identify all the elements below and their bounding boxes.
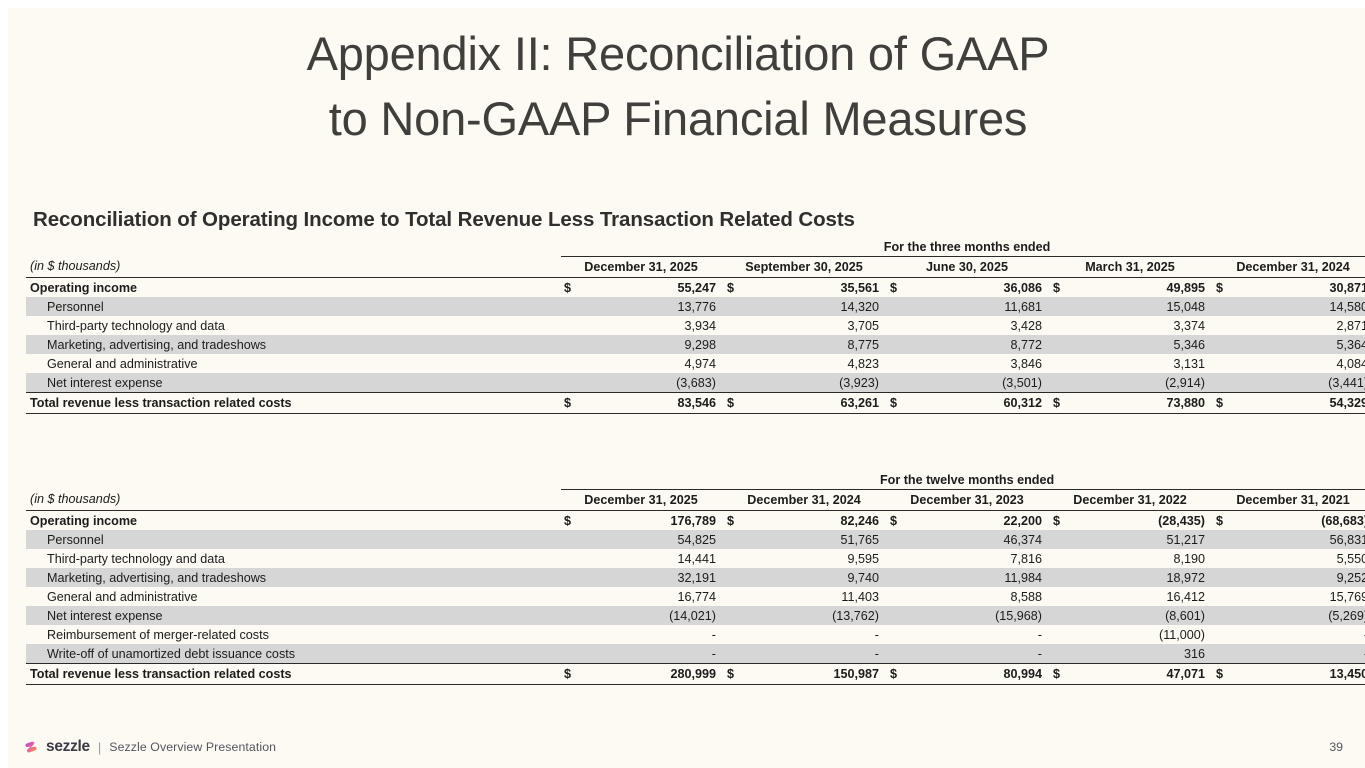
- cell-value: (2,914): [1082, 373, 1210, 393]
- currency-symbol: [724, 354, 756, 373]
- currency-symbol: [561, 587, 593, 606]
- row-label: Personnel: [26, 297, 561, 316]
- cell-value: (14,021): [593, 606, 721, 625]
- currency-symbol: [724, 316, 756, 335]
- currency-symbol: [1050, 625, 1082, 644]
- cell-value: (8,601): [1082, 606, 1210, 625]
- cell-value: 3,705: [756, 316, 884, 335]
- cell-value: -: [919, 625, 1047, 644]
- cell-value: 176,789: [593, 511, 721, 531]
- row-label: General and administrative: [26, 354, 561, 373]
- currency-symbol: $: [561, 664, 593, 685]
- currency-symbol: [561, 606, 593, 625]
- cell-value: (3,501): [919, 373, 1047, 393]
- cell-value: 51,217: [1082, 530, 1210, 549]
- sezzle-wordmark: sezzle: [46, 738, 90, 756]
- currency-symbol: $: [561, 393, 593, 414]
- cell-value: 55,247: [593, 278, 721, 298]
- section-heading: Reconciliation of Operating Income to To…: [33, 208, 855, 232]
- cell-value: 54,329: [1245, 393, 1365, 414]
- cell-value: 54,825: [593, 530, 721, 549]
- row-label: Operating income: [26, 278, 561, 298]
- cell-value: (3,441): [1245, 373, 1365, 393]
- currency-symbol: [561, 625, 593, 644]
- currency-symbol: [1050, 587, 1082, 606]
- cell-value: 4,974: [593, 354, 721, 373]
- row-label: Net interest expense: [26, 373, 561, 393]
- currency-symbol: $: [887, 278, 919, 298]
- currency-symbol: [1213, 625, 1245, 644]
- table-twelve-months-body: For the twelve months ended(in $ thousan…: [26, 471, 1365, 685]
- currency-symbol: [1050, 316, 1082, 335]
- currency-symbol: [1050, 297, 1082, 316]
- currency-symbol: $: [1213, 393, 1245, 414]
- currency-symbol: [724, 568, 756, 587]
- currency-symbol: [1213, 373, 1245, 393]
- table-row: Personnel54,82551,76546,37451,21756,831: [26, 530, 1365, 549]
- cell-value: 16,774: [593, 587, 721, 606]
- column-header-3: June 30, 2025: [887, 257, 1047, 278]
- currency-symbol: [561, 297, 593, 316]
- currency-symbol: [724, 587, 756, 606]
- title-line-2: to Non-GAAP Financial Measures: [8, 87, 1348, 152]
- currency-symbol: [1213, 297, 1245, 316]
- cell-value: 11,681: [919, 297, 1047, 316]
- currency-symbol: [724, 606, 756, 625]
- table-row: Total revenue less transaction related c…: [26, 393, 1365, 414]
- cell-value: -: [756, 644, 884, 664]
- cell-value: (28,435): [1082, 511, 1210, 531]
- cell-value: 13,450: [1245, 664, 1365, 685]
- column-header-4: December 31, 2022: [1050, 490, 1210, 511]
- cell-value: 13,776: [593, 297, 721, 316]
- currency-symbol: [887, 625, 919, 644]
- cell-value: 73,880: [1082, 393, 1210, 414]
- currency-symbol: [887, 606, 919, 625]
- column-header-3: December 31, 2023: [887, 490, 1047, 511]
- currency-symbol: $: [724, 278, 756, 298]
- currency-symbol: [1050, 568, 1082, 587]
- group-header-row: For the three months ended: [26, 238, 1365, 257]
- cell-value: 150,987: [756, 664, 884, 685]
- cell-value: 2,871: [1245, 316, 1365, 335]
- currency-symbol: [1213, 549, 1245, 568]
- cell-value: 18,972: [1082, 568, 1210, 587]
- cell-value: 15,048: [1082, 297, 1210, 316]
- cell-value: 63,261: [756, 393, 884, 414]
- currency-symbol: [887, 549, 919, 568]
- cell-value: -: [593, 625, 721, 644]
- currency-symbol: $: [724, 393, 756, 414]
- page-title: Appendix II: Reconciliation of GAAP to N…: [8, 22, 1348, 152]
- footer: sezzle | Sezzle Overview Presentation 39: [8, 738, 1365, 768]
- currency-symbol: $: [1050, 511, 1082, 531]
- cell-value: -: [1245, 625, 1365, 644]
- currency-symbol: [561, 373, 593, 393]
- cell-value: 5,346: [1082, 335, 1210, 354]
- cell-value: 9,595: [756, 549, 884, 568]
- currency-symbol: [887, 644, 919, 664]
- currency-symbol: [561, 354, 593, 373]
- currency-symbol: [724, 625, 756, 644]
- currency-symbol: $: [1213, 278, 1245, 298]
- currency-symbol: $: [1050, 393, 1082, 414]
- table-row: Third-party technology and data14,4419,5…: [26, 549, 1365, 568]
- row-label: Total revenue less transaction related c…: [26, 664, 561, 685]
- cell-value: -: [1245, 644, 1365, 664]
- currency-symbol: [1213, 354, 1245, 373]
- cell-value: (3,923): [756, 373, 884, 393]
- currency-symbol: $: [887, 393, 919, 414]
- table-row: Marketing, advertising, and tradeshows32…: [26, 568, 1365, 587]
- currency-symbol: [887, 335, 919, 354]
- cell-value: 22,200: [919, 511, 1047, 531]
- currency-symbol: $: [561, 511, 593, 531]
- table-row: Net interest expense(14,021)(13,762)(15,…: [26, 606, 1365, 625]
- cell-value: 83,546: [593, 393, 721, 414]
- currency-symbol: [1213, 568, 1245, 587]
- currency-symbol: [1213, 335, 1245, 354]
- row-label: Total revenue less transaction related c…: [26, 393, 561, 414]
- column-header-row: (in $ thousands)December 31, 2025Decembe…: [26, 490, 1365, 511]
- row-label: Third-party technology and data: [26, 316, 561, 335]
- table-three-months: For the three months ended(in $ thousand…: [26, 238, 1365, 414]
- row-label: Write-off of unamortized debt issuance c…: [26, 644, 561, 664]
- cell-value: 16,412: [1082, 587, 1210, 606]
- cell-value: 280,999: [593, 664, 721, 685]
- column-header-2: September 30, 2025: [724, 257, 884, 278]
- currency-symbol: [561, 644, 593, 664]
- cell-value: 9,298: [593, 335, 721, 354]
- cell-value: 82,246: [756, 511, 884, 531]
- currency-symbol: $: [724, 511, 756, 531]
- currency-symbol: [1213, 606, 1245, 625]
- cell-value: 56,831: [1245, 530, 1365, 549]
- cell-value: 51,765: [756, 530, 884, 549]
- table-row: Operating income$55,247$35,561$36,086$49…: [26, 278, 1365, 298]
- cell-value: 5,550: [1245, 549, 1365, 568]
- currency-symbol: $: [887, 511, 919, 531]
- currency-symbol: [561, 530, 593, 549]
- currency-symbol: [887, 530, 919, 549]
- currency-symbol: [724, 530, 756, 549]
- currency-symbol: [1050, 644, 1082, 664]
- column-header-5: December 31, 2021: [1213, 490, 1365, 511]
- footer-brand-group: sezzle | Sezzle Overview Presentation: [24, 738, 276, 756]
- table-row: Write-off of unamortized debt issuance c…: [26, 644, 1365, 664]
- cell-value: 316: [1082, 644, 1210, 664]
- group-header-label: For the three months ended: [561, 238, 1365, 257]
- units-label: (in $ thousands): [26, 490, 561, 511]
- cell-value: -: [756, 625, 884, 644]
- slide-canvas: Appendix II: Reconciliation of GAAP to N…: [8, 8, 1365, 768]
- cell-value: 3,131: [1082, 354, 1210, 373]
- row-label: General and administrative: [26, 587, 561, 606]
- row-label: Reimbursement of merger-related costs: [26, 625, 561, 644]
- table-row: General and administrative16,77411,4038,…: [26, 587, 1365, 606]
- cell-value: (3,683): [593, 373, 721, 393]
- currency-symbol: [1050, 373, 1082, 393]
- cell-value: 80,994: [919, 664, 1047, 685]
- cell-value: 49,895: [1082, 278, 1210, 298]
- currency-symbol: [724, 373, 756, 393]
- cell-value: 60,312: [919, 393, 1047, 414]
- currency-symbol: [887, 568, 919, 587]
- cell-value: 15,769: [1245, 587, 1365, 606]
- currency-symbol: $: [1213, 664, 1245, 685]
- table-row: Marketing, advertising, and tradeshows9,…: [26, 335, 1365, 354]
- column-header-1: December 31, 2025: [561, 257, 721, 278]
- cell-value: (68,683): [1245, 511, 1365, 531]
- cell-value: 8,190: [1082, 549, 1210, 568]
- cell-value: 3,428: [919, 316, 1047, 335]
- table-row: Operating income$176,789$82,246$22,200$(…: [26, 511, 1365, 531]
- cell-value: 3,934: [593, 316, 721, 335]
- cell-value: 8,588: [919, 587, 1047, 606]
- currency-symbol: [724, 644, 756, 664]
- title-line-1: Appendix II: Reconciliation of GAAP: [8, 22, 1348, 87]
- cell-value: 5,364: [1245, 335, 1365, 354]
- cell-value: 7,816: [919, 549, 1047, 568]
- table-row: Personnel13,77614,32011,68115,04814,580: [26, 297, 1365, 316]
- cell-value: 14,580: [1245, 297, 1365, 316]
- cell-value: 30,871: [1245, 278, 1365, 298]
- currency-symbol: [724, 549, 756, 568]
- currency-symbol: [1050, 335, 1082, 354]
- currency-symbol: [1050, 549, 1082, 568]
- column-header-row: (in $ thousands)December 31, 2025Septemb…: [26, 257, 1365, 278]
- table-row: Third-party technology and data3,9343,70…: [26, 316, 1365, 335]
- sezzle-logo-icon: [24, 740, 39, 755]
- currency-symbol: $: [1050, 278, 1082, 298]
- cell-value: 8,772: [919, 335, 1047, 354]
- cell-value: (5,269): [1245, 606, 1365, 625]
- cell-value: (15,968): [919, 606, 1047, 625]
- group-header-spacer: [26, 238, 561, 257]
- row-label: Marketing, advertising, and tradeshows: [26, 568, 561, 587]
- row-label: Net interest expense: [26, 606, 561, 625]
- currency-symbol: [887, 297, 919, 316]
- cell-value: 11,403: [756, 587, 884, 606]
- cell-value: (11,000): [1082, 625, 1210, 644]
- currency-symbol: [1050, 530, 1082, 549]
- currency-symbol: [887, 373, 919, 393]
- currency-symbol: $: [1050, 664, 1082, 685]
- cell-value: 46,374: [919, 530, 1047, 549]
- row-label: Third-party technology and data: [26, 549, 561, 568]
- currency-symbol: $: [1213, 511, 1245, 531]
- group-header-label: For the twelve months ended: [561, 471, 1365, 490]
- currency-symbol: [1213, 530, 1245, 549]
- table-row: Net interest expense(3,683)(3,923)(3,501…: [26, 373, 1365, 393]
- currency-symbol: [724, 335, 756, 354]
- cell-value: 9,740: [756, 568, 884, 587]
- cell-value: (13,762): [756, 606, 884, 625]
- table-row: Reimbursement of merger-related costs---…: [26, 625, 1365, 644]
- cell-value: 47,071: [1082, 664, 1210, 685]
- row-label: Marketing, advertising, and tradeshows: [26, 335, 561, 354]
- currency-symbol: [1213, 587, 1245, 606]
- group-header-spacer: [26, 471, 561, 490]
- currency-symbol: [561, 549, 593, 568]
- cell-value: 14,441: [593, 549, 721, 568]
- table-three-months-body: For the three months ended(in $ thousand…: [26, 238, 1365, 414]
- column-header-2: December 31, 2024: [724, 490, 884, 511]
- cell-value: 4,084: [1245, 354, 1365, 373]
- units-label: (in $ thousands): [26, 257, 561, 278]
- cell-value: 35,561: [756, 278, 884, 298]
- currency-symbol: [1050, 354, 1082, 373]
- column-header-5: December 31, 2024: [1213, 257, 1365, 278]
- currency-symbol: [1213, 644, 1245, 664]
- currency-symbol: [887, 354, 919, 373]
- currency-symbol: [561, 568, 593, 587]
- column-header-4: March 31, 2025: [1050, 257, 1210, 278]
- currency-symbol: [1050, 606, 1082, 625]
- table-row: Total revenue less transaction related c…: [26, 664, 1365, 685]
- table-row: General and administrative4,9744,8233,84…: [26, 354, 1365, 373]
- footer-presentation-name: Sezzle Overview Presentation: [109, 740, 276, 754]
- currency-symbol: [1213, 316, 1245, 335]
- table-twelve-months: For the twelve months ended(in $ thousan…: [26, 471, 1365, 685]
- currency-symbol: [887, 316, 919, 335]
- cell-value: 9,252: [1245, 568, 1365, 587]
- currency-symbol: $: [724, 664, 756, 685]
- cell-value: 3,846: [919, 354, 1047, 373]
- row-label: Operating income: [26, 511, 561, 531]
- currency-symbol: [561, 335, 593, 354]
- currency-symbol: [887, 587, 919, 606]
- currency-symbol: [724, 297, 756, 316]
- cell-value: 14,320: [756, 297, 884, 316]
- page-number: 39: [1329, 740, 1343, 754]
- footer-divider: |: [98, 740, 101, 755]
- column-header-1: December 31, 2025: [561, 490, 721, 511]
- cell-value: 8,775: [756, 335, 884, 354]
- currency-symbol: $: [561, 278, 593, 298]
- cell-value: 36,086: [919, 278, 1047, 298]
- currency-symbol: [561, 316, 593, 335]
- group-header-row: For the twelve months ended: [26, 471, 1365, 490]
- cell-value: 4,823: [756, 354, 884, 373]
- cell-value: 3,374: [1082, 316, 1210, 335]
- cell-value: 32,191: [593, 568, 721, 587]
- row-label: Personnel: [26, 530, 561, 549]
- cell-value: 11,984: [919, 568, 1047, 587]
- cell-value: -: [919, 644, 1047, 664]
- currency-symbol: $: [887, 664, 919, 685]
- cell-value: -: [593, 644, 721, 664]
